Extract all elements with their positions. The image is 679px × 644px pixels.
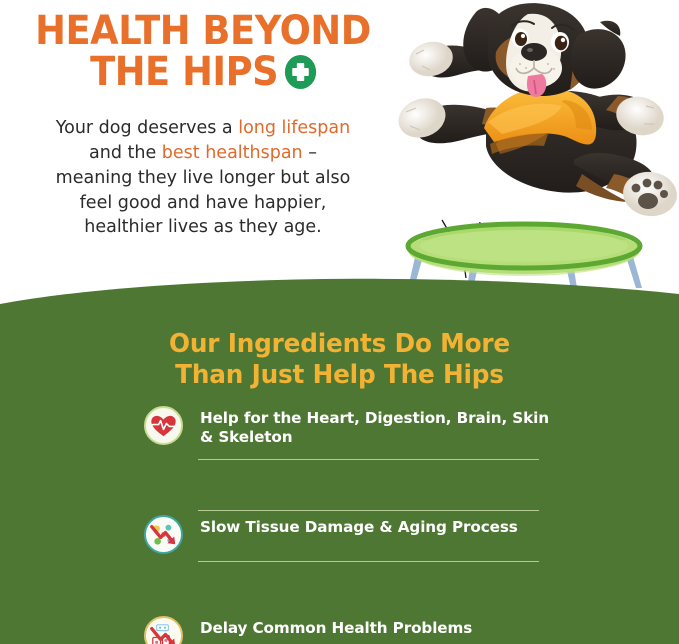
list-divider — [198, 459, 539, 460]
subcopy-line-2-highlight: best healthspan — [162, 143, 303, 163]
medical-cross-icon — [285, 55, 316, 89]
subcopy-line-1-highlight: long lifespan — [238, 118, 350, 138]
jumping-dog-illustration — [368, 0, 679, 246]
subcopy-line-2-tail: – — [303, 143, 317, 163]
page-title: HEALTH BEYOND THE HIPS — [33, 12, 373, 93]
subcopy-line-4: feel good and have happier, — [80, 193, 327, 213]
headline-line-1: HEALTH BEYOND — [33, 12, 373, 51]
subcopy-line-3: meaning they live longer but also — [56, 168, 351, 188]
subcopy-line-1-plain: Your dog deserves a — [56, 118, 238, 138]
hero-subcopy: Your dog deserves a long lifespan and th… — [22, 116, 384, 240]
benefits-section: Our Ingredients Do More Than Just Help T… — [0, 268, 679, 644]
list-item[interactable]: Delay Common Health Problems — [138, 614, 558, 644]
benefits-heading-line-2: Than Just Help The Hips — [10, 360, 669, 391]
benefits-heading: Our Ingredients Do More Than Just Help T… — [10, 329, 669, 391]
list-item-label: Delay Common Health Problems — [200, 614, 558, 638]
declining-arrow-cells-icon — [144, 515, 183, 554]
list-item-label: Help for the Heart, Digestion, Brain, Sk… — [200, 404, 558, 448]
benefits-heading-line-1: Our Ingredients Do More — [10, 329, 669, 360]
headline-line-2: THE HIPS — [90, 49, 278, 95]
product-infographic-poster: HEALTH BEYOND THE HIPS Your dog deserves… — [0, 0, 679, 644]
list-divider — [198, 510, 539, 511]
subcopy-line-5: healthier lives as they age. — [84, 217, 322, 237]
heart-pulse-icon — [144, 406, 183, 445]
declining-arrow-medication-icon — [144, 616, 183, 644]
list-item[interactable]: Help for the Heart, Digestion, Brain, Sk… — [138, 404, 558, 454]
list-item-label: Slow Tissue Damage & Aging Process — [200, 513, 558, 537]
headline-block: HEALTH BEYOND THE HIPS — [18, 12, 388, 93]
list-item[interactable]: Slow Tissue Damage & Aging Process — [138, 513, 558, 563]
list-divider — [198, 561, 539, 562]
hero-section: HEALTH BEYOND THE HIPS Your dog deserves… — [0, 0, 679, 300]
subcopy-line-2-plain: and the — [89, 143, 162, 163]
benefits-list: Help for the Heart, Digestion, Brain, Sk… — [138, 404, 558, 604]
